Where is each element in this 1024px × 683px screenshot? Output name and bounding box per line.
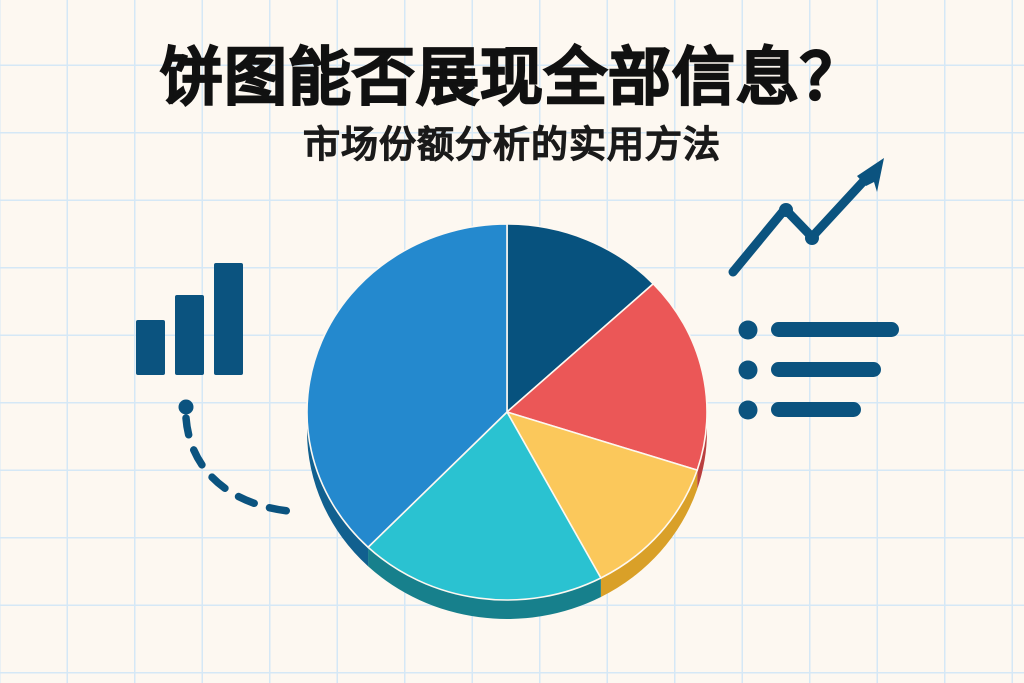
page-subtitle: 市场份额分析的实用方法 [0, 126, 1024, 165]
bar-chart-icon [136, 263, 243, 375]
trend-arrow-vertex-1 [779, 203, 793, 217]
page-title: 饼图能否展现全部信息？ [0, 46, 1024, 110]
bullet-dot-1 [739, 321, 758, 340]
bullet-dot-2 [739, 361, 758, 380]
bullet-list-icon [739, 321, 900, 420]
dashed-arc-path [186, 418, 300, 512]
dashed-arc-icon [179, 400, 301, 513]
bullet-line-1 [771, 322, 899, 337]
trend-arrow-vertex-2 [805, 231, 819, 245]
title-block: 饼图能否展现全部信息？ 市场份额分析的实用方法 [0, 46, 1024, 165]
dashed-arc-dot [179, 400, 194, 415]
bar-chart-bar-2 [175, 295, 204, 375]
trend-arrow-icon [733, 158, 884, 272]
bullet-line-2 [771, 362, 881, 377]
bullet-line-3 [771, 402, 861, 417]
poster-canvas: 饼图能否展现全部信息？ 市场份额分析的实用方法 [0, 0, 1024, 683]
trend-arrow-line [733, 172, 872, 272]
pie-top-faces [307, 224, 707, 600]
bar-chart-bar-3 [214, 263, 243, 375]
bar-chart-bar-1 [136, 320, 165, 375]
bullet-dot-3 [739, 401, 758, 420]
